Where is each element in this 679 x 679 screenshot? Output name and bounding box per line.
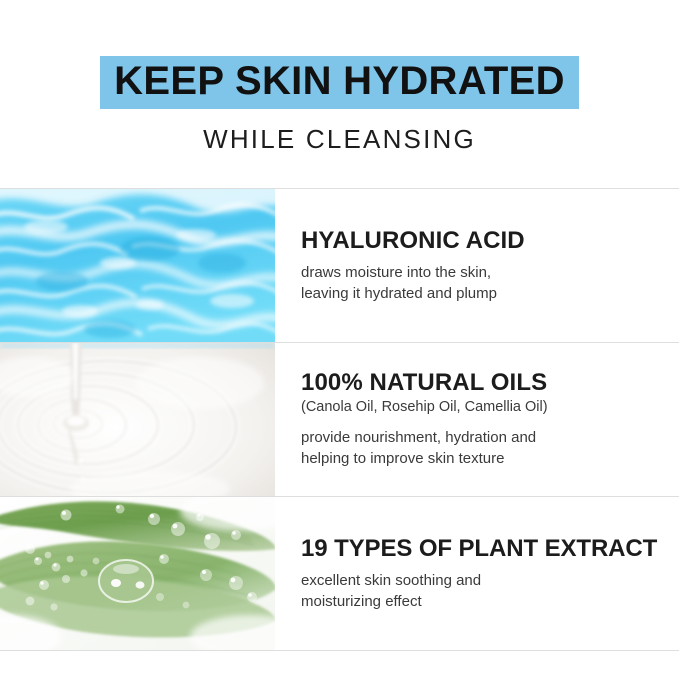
feature-body-line: excellent skin soothing and	[301, 571, 665, 592]
subtitle-container: WHILE CLEANSING	[0, 124, 679, 155]
milky-oil-pour-photo	[0, 343, 275, 496]
feature-copy: 19 TYPES OF PLANT EXTRACT excellent skin…	[275, 497, 679, 650]
feature-copy: HYALURONIC ACID draws moisture into the …	[275, 189, 679, 342]
page-title: KEEP SKIN HYDRATED	[114, 60, 565, 103]
feature-title: 19 TYPES OF PLANT EXTRACT	[301, 535, 665, 563]
feature-body-line: provide nourishment, hydration and	[301, 428, 665, 449]
page-subtitle: WHILE CLEANSING	[203, 124, 476, 154]
divider-bottom	[0, 650, 679, 651]
feature-body-line: moisturizing effect	[301, 592, 665, 613]
feature-body-line: leaving it hydrated and plump	[301, 284, 665, 305]
water-surface-photo	[0, 189, 275, 342]
feature-body-line: draws moisture into the skin,	[301, 263, 665, 284]
feature-subnote: (Canola Oil, Rosehip Oil, Camellia Oil)	[301, 399, 665, 416]
feature-body-line: helping to improve skin texture	[301, 449, 665, 470]
title-highlight-band: KEEP SKIN HYDRATED	[100, 56, 579, 109]
feature-body: excellent skin soothing and moisturizing…	[301, 571, 665, 612]
feature-rows: HYALURONIC ACID draws moisture into the …	[0, 188, 679, 651]
feature-title: 100% NATURAL OILS	[301, 369, 665, 397]
feature-copy: 100% NATURAL OILS (Canola Oil, Rosehip O…	[275, 343, 679, 496]
header-section: KEEP SKIN HYDRATED WHILE CLEANSING	[0, 0, 679, 188]
feature-row: 19 TYPES OF PLANT EXTRACT excellent skin…	[0, 497, 679, 650]
infographic-page: KEEP SKIN HYDRATED WHILE CLEANSING	[0, 0, 679, 679]
green-leaf-dew-photo	[0, 497, 275, 650]
title-container: KEEP SKIN HYDRATED	[0, 56, 679, 109]
feature-body: draws moisture into the skin, leaving it…	[301, 263, 665, 304]
feature-body: provide nourishment, hydration and helpi…	[301, 428, 665, 469]
feature-row: 100% NATURAL OILS (Canola Oil, Rosehip O…	[0, 343, 679, 496]
feature-row: HYALURONIC ACID draws moisture into the …	[0, 189, 679, 342]
feature-title: HYALURONIC ACID	[301, 227, 665, 255]
